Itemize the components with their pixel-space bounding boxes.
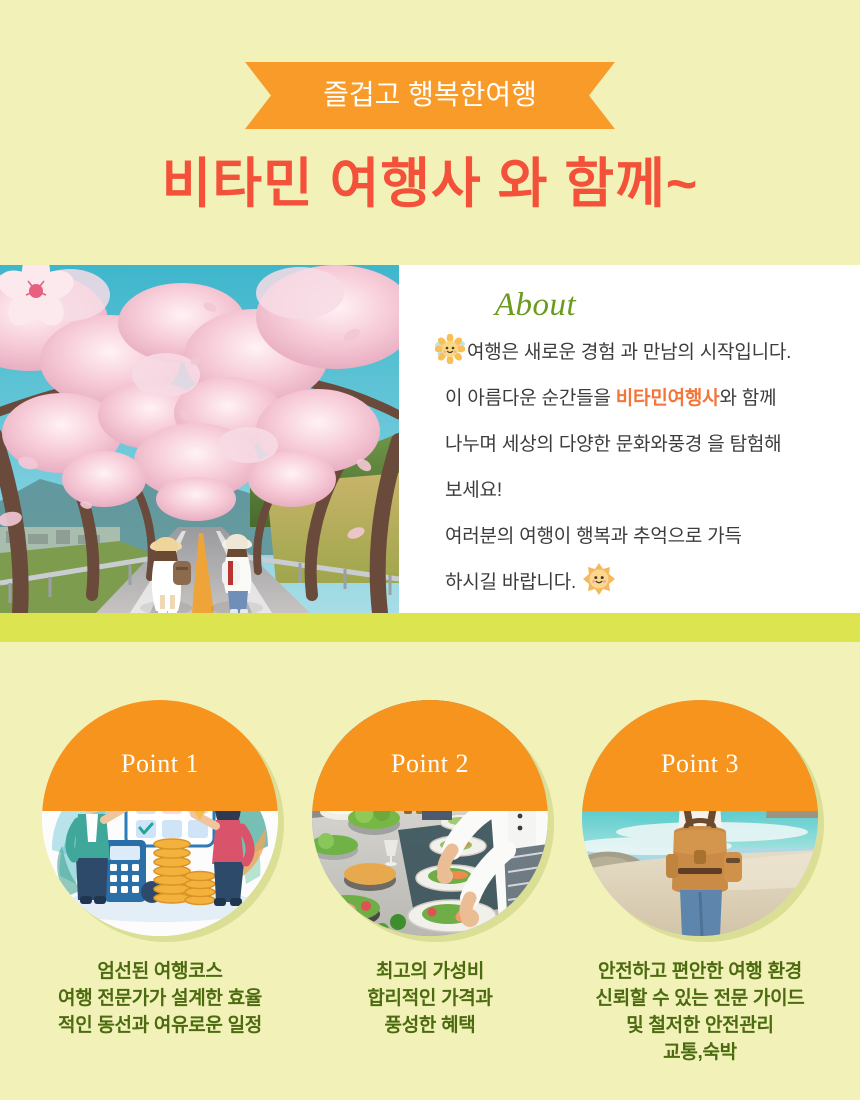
point-1-circle: Point 1 [42,700,278,936]
about-text-1: 여행은 새로운 경험 과 만남의 시작입니다. [467,342,791,363]
about-line-4: 보세요! [435,468,846,514]
points-section: Point 1 엄선된 여행코스 여행 전문가가 설계한 효율 적인 동선과 여… [0,700,860,1066]
point-card-1[interactable]: Point 1 엄선된 여행코스 여행 전문가가 설계한 효율 적인 동선과 여… [40,700,280,1039]
brand-name-highlight: 비타민여행사 [616,388,720,409]
about-section: About [0,265,860,613]
smiling-sun-icon [582,562,616,596]
point-card-3[interactable]: Point 3 안전하고 편안한 여행 환경 신뢰할 수 있는 전문 가이드 및… [580,700,820,1066]
page-header: 즐겁고 행복한여행 비타민 여행사 와 함께~ [0,0,860,214]
point-1-caption: 엄선된 여행코스 여행 전문가가 설계한 효율 적인 동선과 여유로운 일정 [58,958,262,1039]
ribbon-label: 즐겁고 행복한여행 [245,62,615,129]
about-line-6: 하시길 바랍니다. [435,560,846,606]
about-line-3: 나누며 세상의 다양한 문화와풍경 을 탐험해 [435,422,846,468]
about-line-1: 여행은 새로운 경험 과 만남의 시작입니다. [435,330,846,376]
point-2-badge-label: Point 2 [391,749,469,779]
about-text-2a: 이 아름다운 순간들을 [445,388,616,409]
hero-image [0,265,399,613]
point-3-circle: Point 3 [582,700,818,936]
green-divider [0,613,860,642]
point-3-caption: 안전하고 편안한 여행 환경 신뢰할 수 있는 전문 가이드 및 철저한 안전관… [596,958,805,1066]
point-2-badge: Point 2 [312,700,548,811]
point-1-badge-label: Point 1 [121,749,199,779]
smiling-sun-flower-icon [435,334,465,364]
about-text-2b: 와 함께 [719,388,776,409]
point-3-badge-label: Point 3 [661,749,739,779]
about-line-2: 이 아름다운 순간들을 비타민여행사와 함께 [435,376,846,422]
cherry-blossom-road-art [0,265,399,613]
about-heading: About [435,287,846,324]
about-text-6: 하시길 바랍니다. [445,572,576,593]
about-line-5: 여러분의 여행이 행복과 추억으로 가득 [435,514,846,560]
ribbon-banner: 즐겁고 행복한여행 [0,62,860,129]
about-copy: About [399,265,860,613]
point-3-badge: Point 3 [582,700,818,811]
point-card-2[interactable]: Point 2 최고의 가성비 합리적인 가격과 풍성한 혜택 [310,700,550,1039]
point-1-badge: Point 1 [42,700,278,811]
point-2-caption: 최고의 가성비 합리적인 가격과 풍성한 혜택 [367,958,492,1039]
page-title: 비타민 여행사 와 함께~ [0,155,860,214]
promo-page: 즐겁고 행복한여행 비타민 여행사 와 함께~ [0,0,860,1100]
point-2-circle: Point 2 [312,700,548,936]
